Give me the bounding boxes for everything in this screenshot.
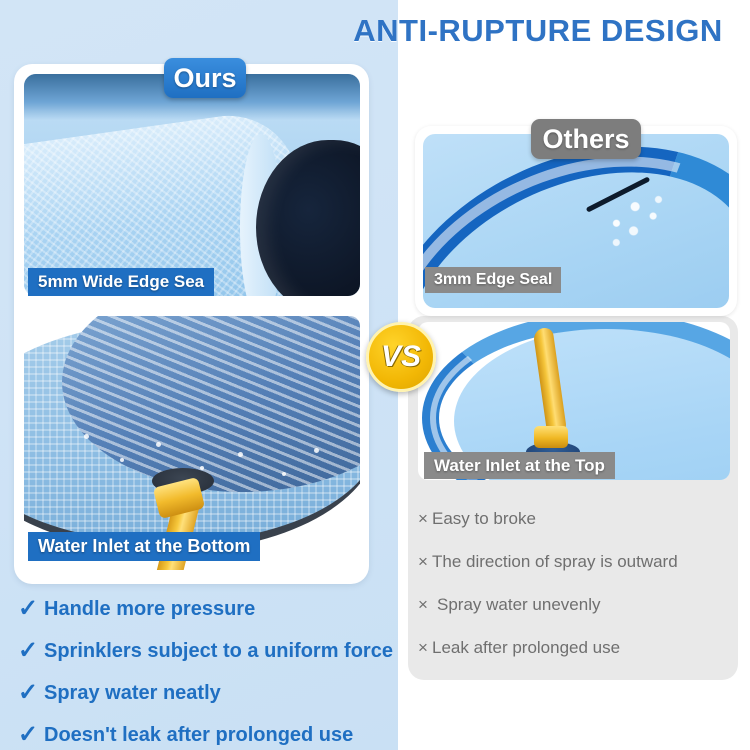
water-droplet (238, 452, 243, 457)
cross-icon: × (418, 637, 432, 659)
con-label: Easy to broke (432, 508, 536, 530)
cons-list: × Easy to broke × The direction of spray… (418, 508, 738, 680)
list-item: × Easy to broke (418, 508, 738, 543)
cross-icon: × (418, 508, 432, 530)
water-droplet (282, 472, 286, 476)
water-droplet (314, 448, 319, 453)
caption-edge-seal-ours: 5mm Wide Edge Sea (28, 268, 214, 296)
infographic-canvas: ANTI-RUPTURE DESIGN Ours 5mm Wide Edge S… (0, 0, 750, 750)
pro-label: Doesn't leak after prolonged use (44, 724, 353, 747)
con-label: The direction of spray is outward (432, 551, 678, 573)
con-label: Leak after prolonged use (432, 637, 620, 659)
photo-rolled-mat-edge (24, 74, 360, 296)
page-title: ANTI-RUPTURE DESIGN (336, 8, 740, 54)
pro-label: Handle more pressure (44, 598, 255, 621)
caption-inlet-ours: Water Inlet at the Bottom (28, 532, 260, 561)
list-item: ✓ Handle more pressure (18, 592, 398, 626)
cross-icon: × (418, 551, 432, 573)
pros-list: ✓ Handle more pressure ✓ Sprinklers subj… (18, 592, 398, 750)
check-icon: ✓ (18, 723, 44, 747)
check-icon: ✓ (18, 597, 44, 621)
vs-badge: VS (366, 322, 436, 392)
list-item: × Leak after prolonged use (418, 637, 738, 672)
ours-badge: Ours (164, 58, 246, 98)
water-droplet (156, 442, 161, 447)
pro-label: Spray water neatly (44, 682, 221, 705)
caption-edge-seal-others: 3mm Edge Seal (425, 267, 561, 293)
pro-label: Sprinklers subject to a uniform force (44, 640, 393, 663)
hose-connector-nut (534, 426, 568, 448)
list-item: ✓ Sprinklers subject to a uniform force (18, 634, 398, 668)
check-icon: ✓ (18, 639, 44, 663)
water-droplet (120, 458, 124, 462)
list-item: × Spray water unevenly (418, 594, 738, 629)
others-badge: Others (531, 119, 641, 159)
con-label: Spray water unevenly (432, 594, 600, 616)
check-icon: ✓ (18, 681, 44, 705)
list-item: × The direction of spray is outward (418, 551, 738, 586)
cross-icon: × (418, 594, 432, 616)
caption-inlet-others: Water Inlet at the Top (424, 452, 615, 479)
list-item: ✓ Doesn't leak after prolonged use (18, 718, 398, 750)
water-droplet (84, 434, 89, 439)
list-item: ✓ Spray water neatly (18, 676, 398, 710)
